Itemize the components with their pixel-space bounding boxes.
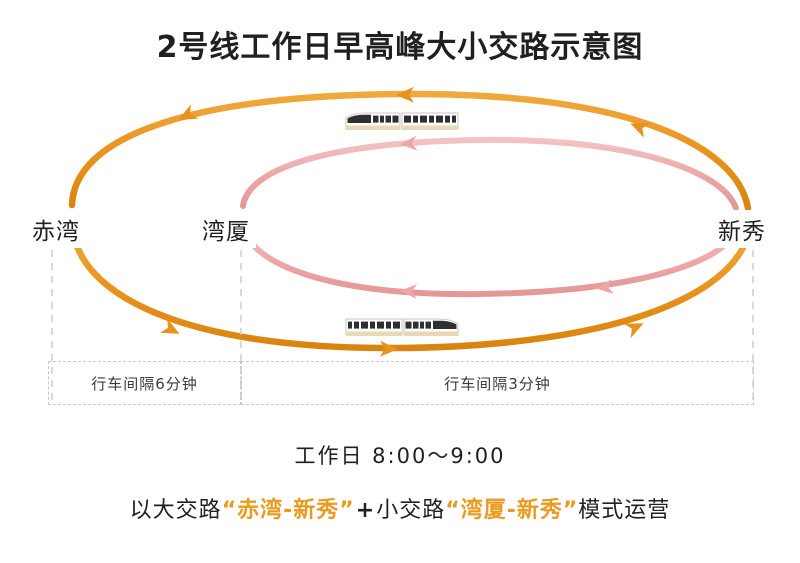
caption-quote-open-1: “ — [222, 498, 237, 523]
small-loop-arrow-bottom-left — [400, 283, 418, 299]
small-loop-route — [243, 136, 738, 299]
page-title: 2号线工作日早高峰大小交路示意图 — [0, 22, 800, 66]
interval-box-left: 行车间隔6分钟 — [48, 361, 241, 405]
small-loop-top-path — [243, 140, 736, 208]
caption-big-route: 赤湾-新秀 — [237, 498, 339, 523]
diagram-canvas — [0, 0, 800, 563]
station-label-xinxiu: 新秀 — [712, 210, 772, 248]
big-loop-arrow-bottom-center — [380, 341, 398, 357]
caption-quote-open-2: “ — [445, 498, 460, 523]
caption-quote-close-1: ” — [339, 498, 354, 523]
train-lower-icon — [346, 319, 458, 336]
big-loop-top-path — [72, 94, 748, 208]
caption-middle: 小交路 — [376, 498, 445, 523]
big-loop-bottom-path — [73, 224, 750, 348]
interval-box-right: 行车间隔3分钟 — [241, 361, 754, 405]
interval-label-right: 行车间隔3分钟 — [440, 373, 555, 394]
operating-mode-caption: 以大交路“赤湾-新秀”+小交路“湾厦-新秀”模式运营 — [0, 492, 800, 524]
caption-plus-sign: + — [355, 498, 376, 523]
caption-prefix: 以大交路 — [130, 498, 222, 523]
interval-label-left: 行车间隔6分钟 — [87, 373, 202, 394]
diagram-root: 2号线工作日早高峰大小交路示意图 — [0, 0, 800, 563]
caption-suffix: 模式运营 — [578, 498, 670, 523]
small-loop-arrow-top-center — [399, 136, 417, 152]
train-upper-icon — [346, 113, 458, 130]
operating-time-label: 工作日 8:00〜9:00 — [0, 440, 800, 470]
big-loop-route — [72, 87, 750, 357]
big-loop-arrow-top-left — [175, 105, 198, 127]
big-loop-arrow-bottom-right — [624, 316, 647, 338]
big-loop-arrow-top-center — [396, 87, 414, 103]
small-loop-arrow-bottom-right — [595, 279, 614, 296]
caption-quote-close-2: ” — [563, 498, 578, 523]
big-loop-arrow-bottom-left — [160, 319, 183, 341]
big-loop-arrow-top-right — [627, 116, 650, 138]
caption-small-route: 湾厦-新秀 — [461, 498, 563, 523]
station-label-wanxia: 湾厦 — [196, 210, 256, 248]
small-loop-bottom-path — [244, 224, 738, 294]
station-label-chiwan: 赤湾 — [26, 210, 86, 248]
